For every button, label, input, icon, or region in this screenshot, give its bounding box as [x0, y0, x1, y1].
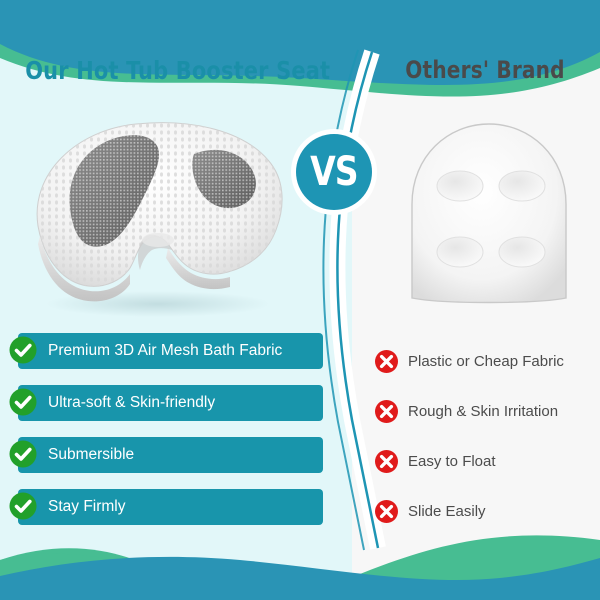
product-image-others: [396, 112, 582, 308]
drawback-label: Plastic or Cheap Fabric: [408, 353, 564, 370]
feature-item: Premium 3D Air Mesh Bath Fabric: [0, 333, 340, 373]
check-icon: [8, 335, 38, 365]
drawback-label: Slide Easily: [408, 503, 486, 520]
drawback-label: Easy to Float: [408, 453, 496, 470]
feature-label: Ultra-soft & Skin-friendly: [48, 394, 215, 412]
right-panel-title: Others' Brand: [387, 56, 582, 84]
vs-label: VS: [310, 152, 358, 192]
feature-label: Submersible: [48, 446, 134, 464]
feature-item: Submersible: [0, 437, 340, 477]
x-icon: [374, 499, 399, 524]
feature-banner: Submersible: [18, 437, 323, 473]
feature-banner: Ultra-soft & Skin-friendly: [18, 385, 323, 421]
drawback-item: Easy to Float: [374, 436, 600, 486]
feature-banner: Premium 3D Air Mesh Bath Fabric: [18, 333, 323, 369]
x-icon: [374, 349, 399, 374]
x-icon: [374, 399, 399, 424]
left-panel-title: Our Hot Tub Booster Seat: [25, 56, 323, 85]
x-icon: [374, 449, 399, 474]
check-icon: [8, 387, 38, 417]
product-image-ours: [18, 108, 290, 318]
feature-label: Stay Firmly: [48, 498, 126, 516]
feature-item: Stay Firmly: [0, 489, 340, 529]
drawbacks-list: Plastic or Cheap Fabric Rough & Skin Irr…: [374, 336, 600, 536]
check-icon: [8, 439, 38, 469]
drawback-item: Rough & Skin Irritation: [374, 386, 600, 436]
drawback-label: Rough & Skin Irritation: [408, 403, 558, 420]
drawback-item: Plastic or Cheap Fabric: [374, 336, 600, 386]
drawback-item: Slide Easily: [374, 486, 600, 536]
feature-banner: Stay Firmly: [18, 489, 323, 525]
feature-item: Ultra-soft & Skin-friendly: [0, 385, 340, 425]
comparison-infographic: Our Hot Tub Booster Seat Others' Brand V…: [0, 0, 600, 600]
check-icon: [8, 491, 38, 521]
feature-label: Premium 3D Air Mesh Bath Fabric: [48, 342, 282, 360]
features-list: Premium 3D Air Mesh Bath Fabric Ultra-so…: [0, 333, 340, 541]
vs-badge: VS: [296, 134, 372, 210]
